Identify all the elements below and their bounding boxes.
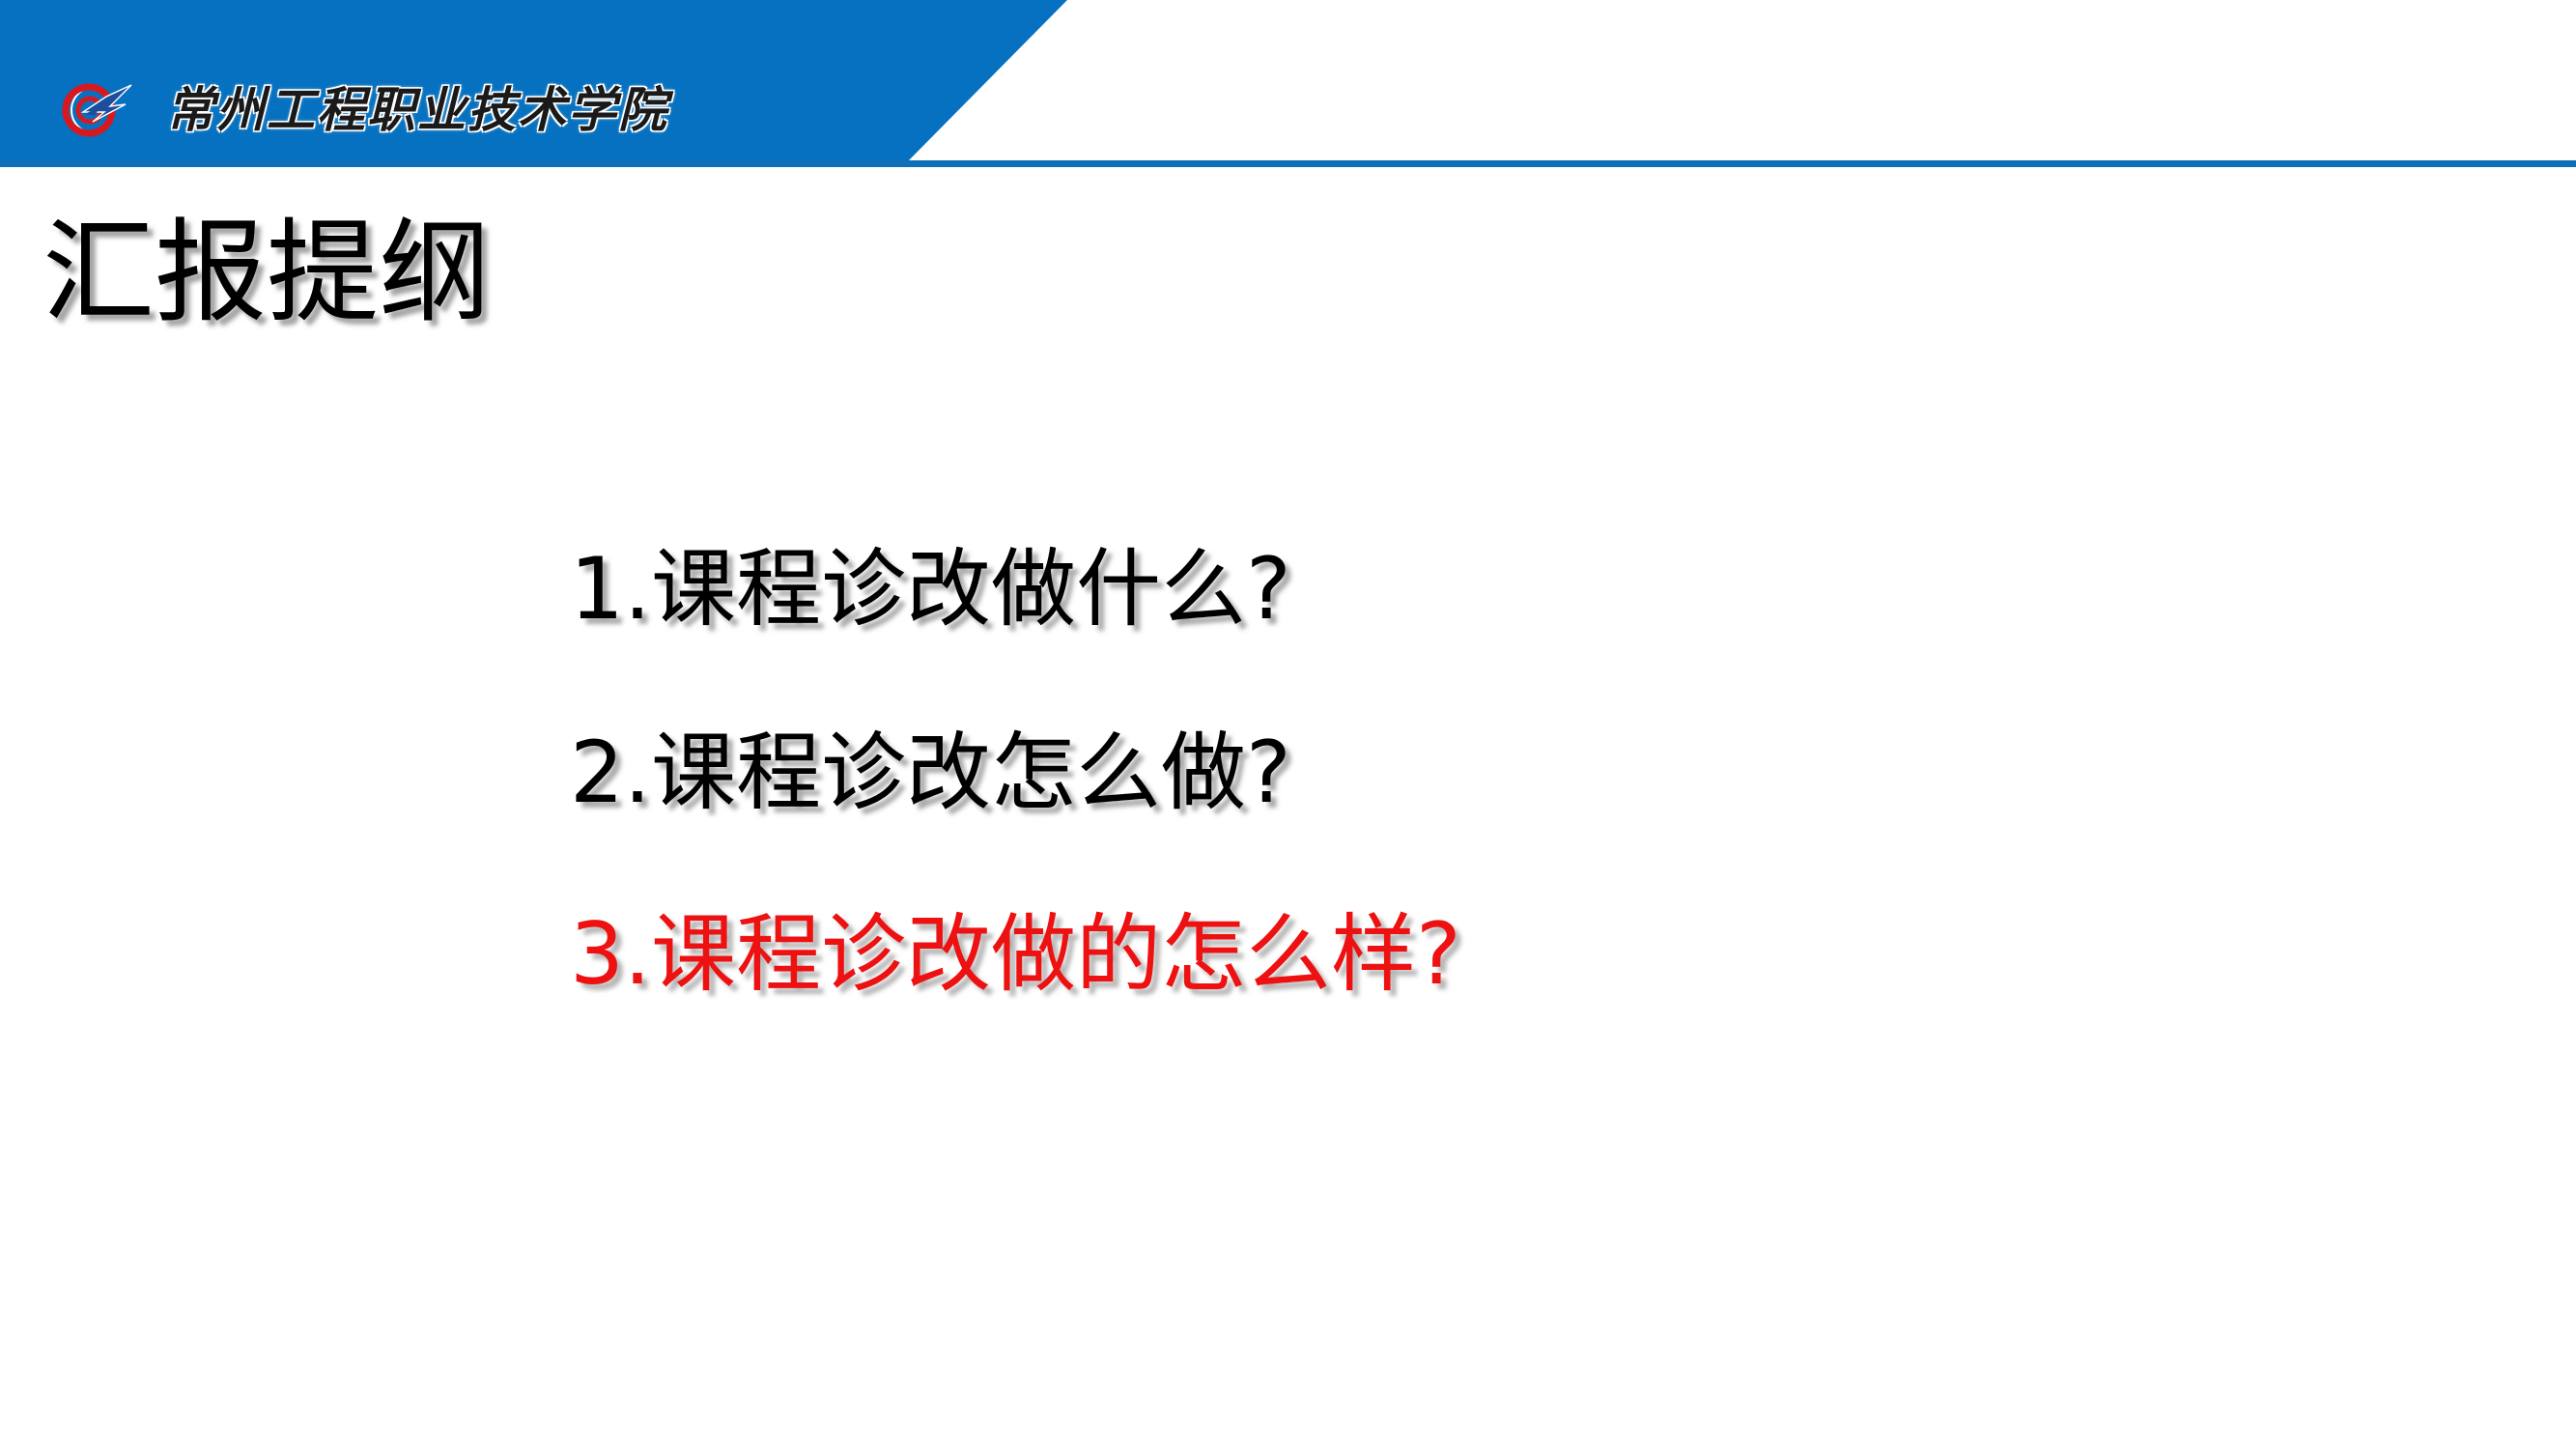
school-logo-emblem-icon <box>50 83 133 137</box>
outline-item-2: 2.课程诊改怎么做? <box>570 725 2212 821</box>
page-title: 汇报提纲 <box>42 211 491 336</box>
slide-header: 常州工程职业技术学院 <box>0 0 2576 174</box>
header-divider-rule <box>0 160 2576 167</box>
outline-list: 1.课程诊改做什么? 2.课程诊改怎么做? 3.课程诊改做的怎么样? <box>570 541 2212 1003</box>
school-name-wordmark: 常州工程职业技术学院 <box>166 81 707 141</box>
outline-item-3: 3.课程诊改做的怎么样? <box>570 906 2212 1003</box>
presentation-slide: 常州工程职业技术学院 汇报提纲 1.课程诊改做什么? 2.课程诊改怎么做? 3.… <box>0 0 2576 1450</box>
outline-item-1: 1.课程诊改做什么? <box>570 541 2212 638</box>
